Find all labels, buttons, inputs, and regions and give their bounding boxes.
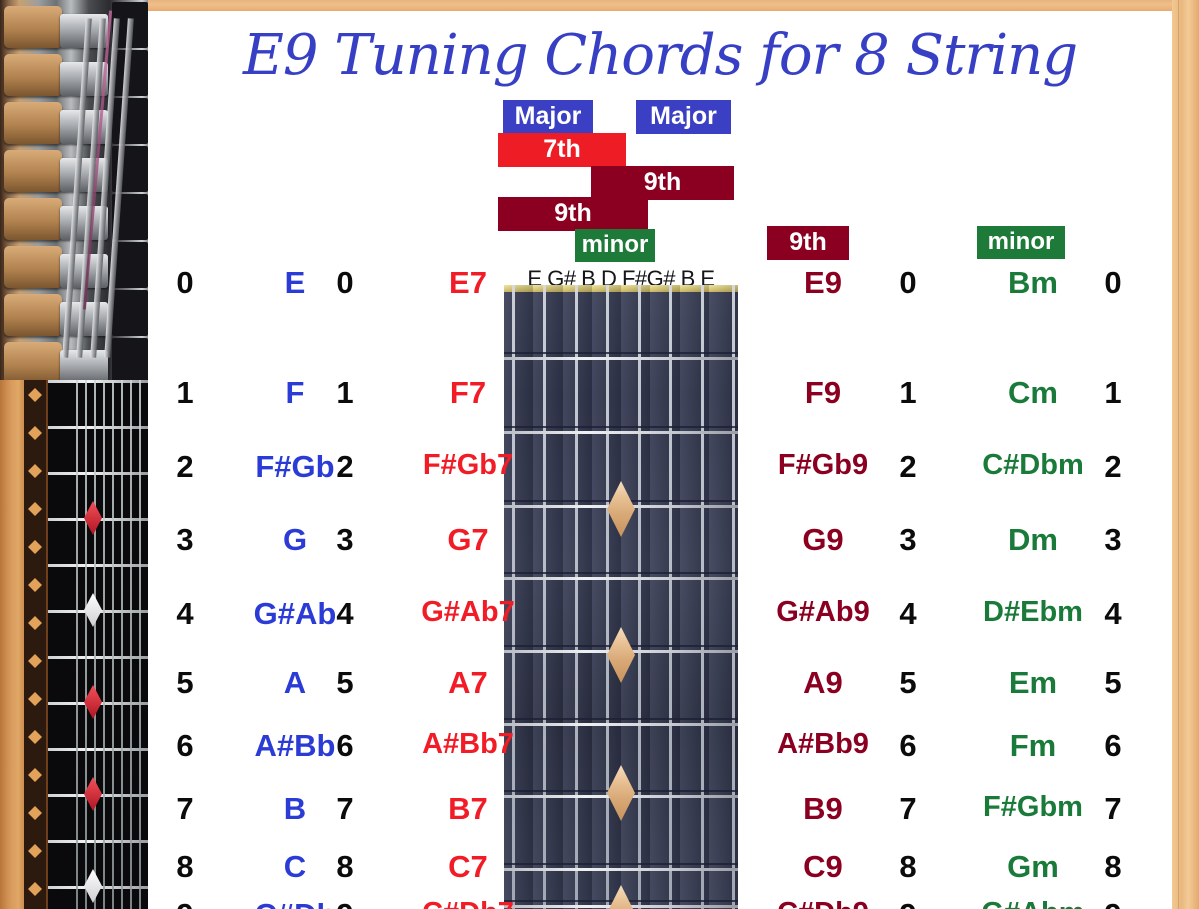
major-fret-number-row-2: 2 (150, 451, 220, 482)
seventh-fret-number-row-1: 1 (310, 377, 380, 408)
inlay-diamond-9 (28, 692, 42, 706)
photo-fret-2 (48, 426, 148, 429)
seventh-fret-number-row-8: 8 (310, 851, 380, 882)
major-fret-number-row-3: 3 (150, 524, 220, 555)
major-fret-number-row-6: 6 (150, 730, 220, 761)
badge-major-1: Major (636, 100, 731, 134)
tuning-key-7 (4, 294, 62, 336)
badge-9th-3: 9th (591, 166, 734, 200)
photo-string-3 (94, 380, 96, 909)
chord-chart-page: E9 Tuning Chords for 8 String MajorMajor… (0, 0, 1199, 909)
major-fret-number-row-9: 9 (150, 899, 220, 909)
seventh-fret-number-row-3: 3 (310, 524, 380, 555)
seventh-chord-row-4: G#Ab7 (378, 598, 558, 627)
inlay-diamond-5 (28, 540, 42, 554)
ninth-fret-number-row-6: 6 (873, 730, 943, 761)
string-lane-6 (650, 285, 679, 909)
seventh-chord-row-2: F#Gb7 (378, 451, 558, 480)
inlay-diamond-12 (28, 806, 42, 820)
page-title: E9 Tuning Chords for 8 String (148, 23, 1172, 88)
content-panel: E9 Tuning Chords for 8 String MajorMajor… (148, 11, 1172, 909)
seventh-fret-number-row-0: 0 (310, 267, 380, 298)
tuning-key-5 (4, 198, 62, 240)
minor-fret-number-row-0: 0 (1078, 267, 1148, 298)
fret-shadow-4 (504, 572, 738, 574)
seventh-chord-row-3: G7 (378, 524, 558, 555)
ninth-fret-number-row-8: 8 (873, 851, 943, 882)
ninth-fret-number-row-4: 4 (873, 598, 943, 629)
major-fret-number-row-4: 4 (150, 598, 220, 629)
photo-string-5 (112, 380, 114, 909)
photo-fret-1 (48, 380, 148, 383)
minor-fret-number-row-9: 9 (1078, 899, 1148, 909)
minor-fret-number-row-2: 2 (1078, 451, 1148, 482)
hardware-shadow-7 (112, 290, 148, 336)
fret-line-1 (504, 357, 738, 360)
ninth-fret-number-row-5: 5 (873, 667, 943, 698)
tuning-key-1 (4, 6, 62, 48)
minor-fret-number-row-5: 5 (1078, 667, 1148, 698)
ninth-fret-number-row-2: 2 (873, 451, 943, 482)
photo-neck (48, 380, 148, 909)
frame-right-border (1172, 0, 1199, 909)
string-lane-7 (680, 285, 709, 909)
seventh-chord-row-7: B7 (378, 793, 558, 824)
badge-minor-5: minor (575, 229, 655, 262)
fret-shadow-6 (504, 718, 738, 720)
inlay-diamond-3 (28, 464, 42, 478)
major-fret-number-row-7: 7 (150, 793, 220, 824)
ninth-fret-number-row-1: 1 (873, 377, 943, 408)
fret-line-2 (504, 431, 738, 434)
inlay-strip (24, 380, 46, 909)
inlay-diamond-13 (28, 844, 42, 858)
major-fret-number-row-1: 1 (150, 377, 220, 408)
tuning-key-3 (4, 102, 62, 144)
string-3-B (575, 285, 578, 909)
seventh-fret-number-row-9: 9 (310, 899, 380, 909)
changer-finger-4 (60, 158, 108, 192)
string-7-B (701, 285, 704, 909)
inlay-diamond-6 (28, 578, 42, 592)
string-5-F# (638, 285, 641, 909)
seventh-fret-number-row-6: 6 (310, 730, 380, 761)
photo-string-2 (85, 380, 87, 909)
seventh-chord-row-9: C#Db7 (378, 899, 558, 909)
photo-string-4 (103, 380, 105, 909)
photo-fret-11 (48, 840, 148, 843)
tuning-key-2 (4, 54, 62, 96)
badge-9th-4: 9th (498, 197, 648, 231)
seventh-fret-number-row-2: 2 (310, 451, 380, 482)
inlay-diamond-2 (28, 426, 42, 440)
minor-fret-number-row-3: 3 (1078, 524, 1148, 555)
photo-fret-5 (48, 564, 148, 567)
seventh-fret-number-row-7: 7 (310, 793, 380, 824)
badge-7th-2: 7th (498, 133, 626, 167)
ninth-fret-number-row-3: 3 (873, 524, 943, 555)
major-fret-number-row-0: 0 (150, 267, 220, 298)
photo-fret-9 (48, 748, 148, 751)
badge-minor-7: minor (977, 226, 1065, 259)
pedal-steel-photo (0, 0, 148, 909)
photo-fret-7 (48, 656, 148, 659)
ninth-fret-number-row-9: 9 (873, 899, 943, 909)
photo-string-6 (121, 380, 123, 909)
photo-fret-3 (48, 472, 148, 475)
frame-top-border (0, 0, 1199, 11)
minor-fret-number-row-6: 6 (1078, 730, 1148, 761)
inlay-diamond-11 (28, 768, 42, 782)
seventh-fret-number-row-4: 4 (310, 598, 380, 629)
string-lane-5 (621, 285, 650, 909)
tuning-key-8 (4, 342, 62, 384)
photo-string-1 (76, 380, 78, 909)
minor-fret-number-row-7: 7 (1078, 793, 1148, 824)
seventh-chord-row-8: C7 (378, 851, 558, 882)
seventh-chord-row-1: F7 (378, 377, 558, 408)
photo-string-7 (130, 380, 132, 909)
string-6-G# (669, 285, 672, 909)
major-fret-number-row-5: 5 (150, 667, 220, 698)
minor-fret-number-row-4: 4 (1078, 598, 1148, 629)
inlay-diamond-1 (28, 388, 42, 402)
minor-fret-number-row-8: 8 (1078, 851, 1148, 882)
fret-shadow-1 (504, 352, 738, 354)
fret-shadow-2 (504, 426, 738, 428)
ninth-fret-number-row-7: 7 (873, 793, 943, 824)
inlay-diamond-4 (28, 502, 42, 516)
inlay-diamond-14 (28, 882, 42, 896)
badge-major-0: Major (503, 100, 593, 134)
minor-fret-number-row-1: 1 (1078, 377, 1148, 408)
seventh-fret-number-row-5: 5 (310, 667, 380, 698)
tuning-key-4 (4, 150, 62, 192)
hardware-shadow-8 (112, 338, 148, 384)
seventh-chord-row-5: A7 (378, 667, 558, 698)
inlay-diamond-7 (28, 616, 42, 630)
string-4-D (606, 285, 609, 909)
badge-9th-6: 9th (767, 226, 849, 260)
major-fret-number-row-8: 8 (150, 851, 220, 882)
ninth-fret-number-row-0: 0 (873, 267, 943, 298)
tuning-key-6 (4, 246, 62, 288)
fret-line-4 (504, 577, 738, 580)
seventh-chord-row-0: E7 (378, 267, 558, 298)
hardware-shadow-3 (112, 98, 148, 144)
photo-tuning-keys-region (0, 0, 148, 385)
photo-fretboard-region (0, 380, 148, 909)
seventh-chord-row-6: A#Bb7 (378, 730, 558, 759)
photo-string-8 (139, 380, 141, 909)
inlay-diamond-10 (28, 730, 42, 744)
inlay-diamond-8 (28, 654, 42, 668)
fret-line-6 (504, 723, 738, 726)
